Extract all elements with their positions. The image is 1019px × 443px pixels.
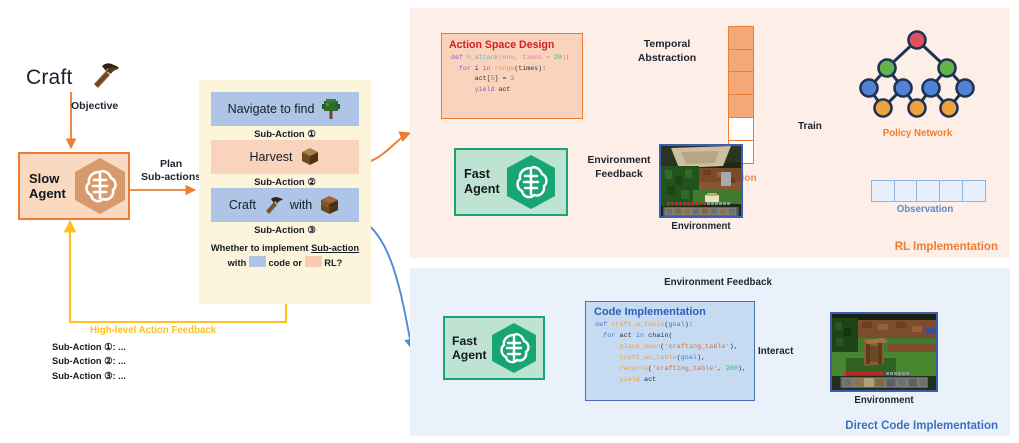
- minecraft-log-icon: [299, 146, 321, 168]
- environment-feedback-label-code: Environment Feedback: [638, 277, 798, 288]
- impl-code-label: code or: [268, 258, 302, 268]
- rl-implementation-panel: Action Space Design def n_attack(env, ti…: [410, 8, 1010, 258]
- sub-action-3-label-a: Craft: [229, 198, 256, 212]
- direct-code-implementation-caption: Direct Code Implementation: [845, 420, 998, 432]
- sub-action-3-box[interactable]: Craft with: [211, 188, 359, 222]
- observation-cell: [894, 180, 918, 202]
- impl-with-label: with: [228, 258, 247, 268]
- action-cell: [728, 26, 754, 50]
- environment-label-rl: Environment: [645, 221, 757, 232]
- train-label: Train: [798, 121, 822, 132]
- list-item: Sub-Action ③: ...: [52, 369, 126, 383]
- environment-label-code: Environment: [814, 395, 954, 406]
- high-level-action-feedback-list: Sub-Action ①: ... Sub-Action ②: ... Sub-…: [52, 340, 126, 383]
- openai-logo-icon: [489, 321, 539, 375]
- list-item: Sub-Action ②: ...: [52, 354, 126, 368]
- implementation-question: Whether to implement Sub-action with cod…: [199, 242, 371, 271]
- sub-action-2-caption: Sub-Action ②: [199, 177, 371, 188]
- slow-agent-label: Slow Agent: [20, 171, 66, 202]
- list-item: Sub-Action ①: ...: [52, 340, 126, 354]
- sub-action-2-box[interactable]: Harvest: [211, 140, 359, 174]
- sub-action-3-caption: Sub-Action ③: [199, 225, 371, 236]
- rl-implementation-caption: RL Implementation: [895, 241, 998, 253]
- action-cell: [728, 117, 754, 141]
- minecraft-pickaxe-icon: [86, 60, 122, 92]
- code-implementation-code: def craft_w_table(goal): for act in chai…: [586, 320, 754, 386]
- fast-agent-label: Fast Agent: [445, 334, 487, 363]
- sub-action-3-label-b: with: [290, 198, 312, 212]
- temporal-abstraction-label: Temporal Abstraction: [612, 38, 722, 65]
- figure-root: Craft Objective Slow Agent: [0, 0, 1019, 443]
- impl-question-emphasis: Sub-action: [311, 243, 359, 253]
- observation-cell: [916, 180, 940, 202]
- sub-action-1-label: Navigate to find: [228, 102, 315, 116]
- rl-color-swatch: [305, 256, 322, 267]
- observation-cell: [939, 180, 963, 202]
- policy-network-diagram: [855, 26, 980, 126]
- fast-agent-box-rl[interactable]: Fast Agent: [454, 148, 568, 216]
- impl-question-text: Whether to implement: [211, 243, 311, 253]
- openai-logo-icon: [504, 153, 558, 211]
- observation-cell: [962, 180, 986, 202]
- sub-action-2-label: Harvest: [249, 150, 292, 164]
- minecraft-pickaxe-icon: [262, 195, 284, 215]
- sub-action-panel: Navigate to find Sub-Action ① Harvest: [199, 80, 371, 304]
- observation-cell: [871, 180, 895, 202]
- action-space-design-title: Action Space Design: [442, 34, 582, 53]
- direct-code-implementation-panel: Fast Agent Environment Feedback Code Imp…: [410, 268, 1010, 436]
- code-color-swatch: [249, 256, 266, 267]
- craft-objective-label: Craft: [26, 66, 73, 90]
- slow-agent-box[interactable]: Slow Agent: [18, 152, 130, 220]
- minecraft-tree-icon: [320, 98, 342, 120]
- policy-network-label: Policy Network: [850, 128, 985, 139]
- objective-arrow-label: Objective: [71, 100, 118, 112]
- action-space-design-code: def n_attack(env, times = 20): for i in …: [442, 53, 582, 96]
- action-cell: [728, 71, 754, 95]
- minecraft-crafting-table-icon: [318, 194, 341, 217]
- action-space-design-box[interactable]: Action Space Design def n_attack(env, ti…: [441, 33, 583, 119]
- code-implementation-box[interactable]: Code Implementation def craft_w_table(go…: [585, 301, 755, 401]
- code-implementation-title: Code Implementation: [586, 302, 754, 320]
- observation-vector: [872, 180, 986, 202]
- impl-rl-label: RL?: [324, 258, 342, 268]
- plan-sub-actions-label: Plan Sub-actions: [141, 158, 201, 184]
- fast-agent-label: Fast Agent: [456, 167, 500, 197]
- openai-logo-icon: [72, 156, 128, 216]
- sub-action-1-box[interactable]: Navigate to find: [211, 92, 359, 126]
- observation-label: Observation: [860, 204, 990, 215]
- environment-screenshot-code: [830, 312, 938, 392]
- environment-feedback-label-rl: Environment Feedback: [580, 154, 658, 182]
- fast-agent-box-code[interactable]: Fast Agent: [443, 316, 545, 380]
- high-level-action-feedback-title: High-level Action Feedback: [90, 325, 216, 336]
- environment-screenshot-rl: [659, 144, 743, 218]
- sub-action-1-caption: Sub-Action ①: [199, 129, 371, 140]
- action-cell: [728, 49, 754, 73]
- interact-label: Interact: [758, 346, 793, 357]
- action-cell: [728, 94, 754, 118]
